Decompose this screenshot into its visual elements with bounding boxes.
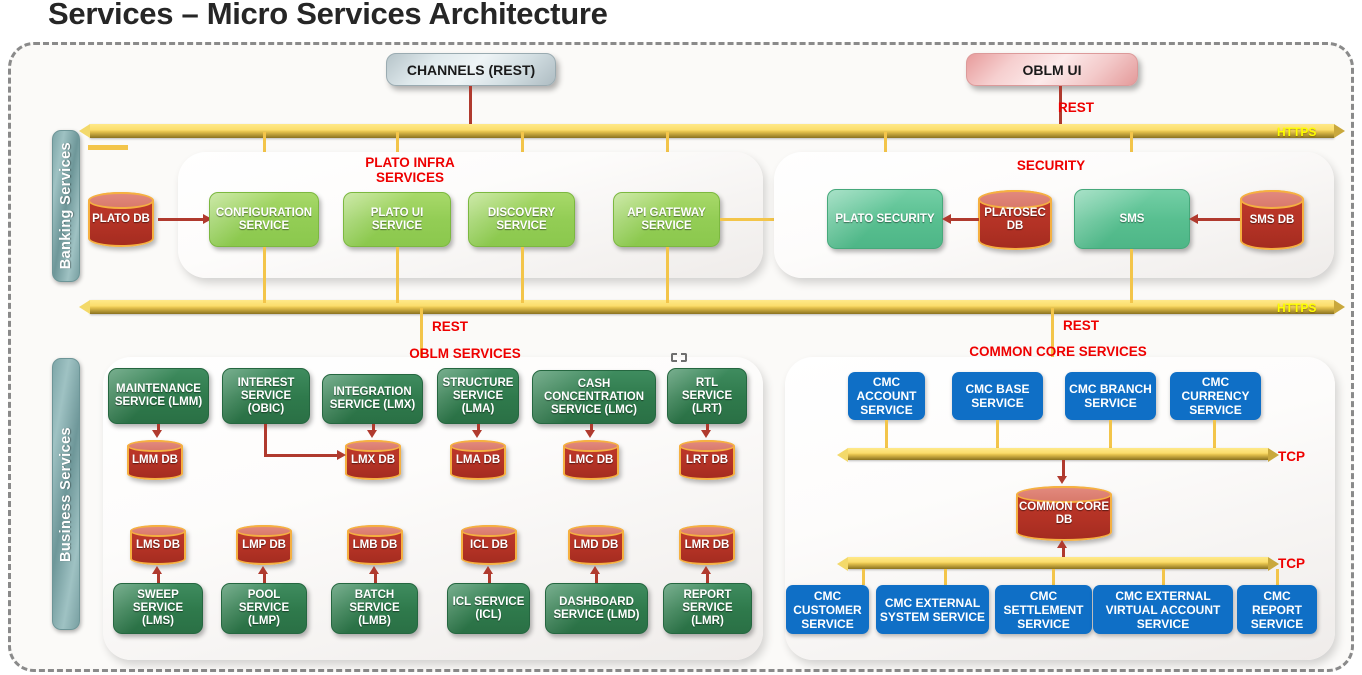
bus-bar-top — [90, 124, 1334, 138]
arrow-pool-to-lmp-db — [258, 566, 268, 574]
lmx-db[interactable]: LMX DB — [345, 440, 401, 480]
icl-service-box[interactable]: ICL SERVICE (ICL) — [447, 583, 530, 634]
cmc-account-service-box[interactable]: CMC ACCOUNT SERVICE — [848, 372, 925, 420]
tcp-bus-to-cmc-external-system-connector — [944, 569, 947, 585]
tcp-bus-to-cmc-customer-connector — [862, 569, 865, 585]
rest-label-common-core: REST — [1063, 318, 1099, 333]
arrow-rtl-to-lrt-db — [701, 430, 711, 438]
rtl-service-box[interactable]: RTL SERVICE (LRT) — [667, 368, 747, 424]
interest-elbow-horizontal — [264, 454, 338, 457]
cmc-currency-service-box[interactable]: CMC CURRENCY SERVICE — [1170, 372, 1261, 420]
lmc-db[interactable]: LMC DB — [563, 440, 619, 480]
arrow-bottom-bus-to-common-core-db — [1057, 540, 1067, 548]
oblm-services-panel-title: OBLM SERVICES — [380, 346, 550, 361]
arrow-sms-db-to-sms — [1189, 214, 1198, 224]
interest-service-box[interactable]: INTEREST SERVICE (OBIC) — [222, 368, 310, 424]
arrow-integration-to-lmx-db — [367, 430, 377, 438]
sms-db-to-sms-connector — [1198, 218, 1240, 221]
cmc-account-to-tcp-bus-connector — [885, 420, 888, 450]
icl-db[interactable]: ICL DB — [461, 525, 517, 565]
dashed-marker-icon — [671, 353, 687, 362]
arrow-interest-to-lmx-db — [337, 450, 346, 460]
cmc-report-service-box[interactable]: CMC REPORT SERVICE — [1237, 585, 1317, 634]
https-label-top: HTTPS — [1277, 126, 1311, 139]
tcp-bus-top — [848, 448, 1268, 460]
arrow-report-to-lmr-db — [701, 566, 711, 574]
tcp-label-bottom: TCP — [1278, 556, 1305, 571]
plato-ui-service-box[interactable]: PLATO UI SERVICE — [343, 192, 451, 247]
sms-db[interactable]: SMS DB — [1240, 190, 1304, 250]
platosec-db[interactable]: PLATOSEC DB — [978, 190, 1052, 250]
tcp-bus-to-cmc-report-connector — [1276, 569, 1279, 585]
lms-db[interactable]: LMS DB — [130, 525, 186, 565]
bus2-up-plato-ui-service — [396, 247, 399, 303]
structure-service-box[interactable]: STRUCTURE SERVICE (LMA) — [437, 368, 519, 424]
batch-service-box[interactable]: BATCH SERVICE (LMB) — [331, 583, 418, 634]
arrow-sweep-to-lms-db — [152, 566, 162, 574]
cmc-settlement-service-box[interactable]: CMC SETTLEMENT SERVICE — [995, 585, 1092, 634]
configuration-service-box[interactable]: CONFIGURATION SERVICE — [209, 192, 319, 247]
integration-service-box[interactable]: INTEGRATION SERVICE (LMX) — [322, 374, 423, 424]
platosec-db-to-plato-security-connector — [951, 218, 979, 221]
sms-box[interactable]: SMS — [1074, 189, 1190, 249]
cmc-base-to-tcp-bus-connector — [996, 420, 999, 450]
cmc-branch-service-box[interactable]: CMC BRANCH SERVICE — [1065, 372, 1156, 420]
tcp-bus-to-cmc-external-virtual-account-connector — [1162, 569, 1165, 585]
bus-stub-left-top — [88, 145, 128, 150]
cmc-base-service-box[interactable]: CMC BASE SERVICE — [952, 372, 1043, 420]
arrow-icl-to-icl-db — [483, 566, 493, 574]
cmc-customer-service-box[interactable]: CMC CUSTOMER SERVICE — [786, 585, 869, 634]
lma-db[interactable]: LMA DB — [450, 440, 506, 480]
channels-box[interactable]: CHANNELS (REST) — [386, 53, 556, 86]
diagram-canvas: Services – Micro Services Architecture C… — [0, 0, 1362, 675]
arrow-platosec-db-to-plato-security — [942, 214, 951, 224]
arrow-maintenance-to-lmm-db — [152, 430, 162, 438]
page-title: Services – Micro Services Architecture — [48, 0, 608, 32]
https-label-middle: HTTPS — [1277, 302, 1311, 315]
arrow-cash-concentration-to-lmc-db — [585, 430, 595, 438]
bus2-up-api-gateway-service — [666, 247, 669, 303]
side-label-business-services: Business Services — [52, 358, 80, 630]
bus-bar-middle — [90, 300, 1334, 314]
lrt-db[interactable]: LRT DB — [679, 440, 735, 480]
dashboard-service-box[interactable]: DASHBOARD SERVICE (LMD) — [545, 583, 648, 634]
sweep-service-box[interactable]: SWEEP SERVICE (LMS) — [113, 583, 203, 634]
lmr-db[interactable]: LMR DB — [679, 525, 735, 565]
plato-security-box[interactable]: PLATO SECURITY — [827, 189, 943, 249]
api-gateway-service-box[interactable]: API GATEWAY SERVICE — [613, 192, 720, 247]
channels-label: CHANNELS (REST) — [407, 62, 535, 78]
lmm-db[interactable]: LMM DB — [127, 440, 183, 480]
arrow-structure-to-lma-db — [472, 430, 482, 438]
bus2-up-configuration-service — [263, 247, 266, 303]
maintenance-service-box[interactable]: MAINTENANCE SERVICE (LMM) — [108, 368, 209, 424]
tcp-label-top: TCP — [1278, 449, 1305, 464]
tcp-bus-to-cmc-settlement-connector — [1052, 569, 1055, 585]
security-panel-title: SECURITY — [1011, 158, 1091, 173]
plato-db-to-configuration-connector — [158, 218, 204, 221]
arrow-tcp-bus-to-common-core-db — [1057, 476, 1067, 484]
lmb-db[interactable]: LMB DB — [347, 525, 403, 565]
bus2-up-discovery-service — [521, 247, 524, 303]
oblm-ui-box[interactable]: OBLM UI — [966, 53, 1138, 86]
rest-label-oblm-ui: REST — [1058, 100, 1094, 115]
plato-infra-panel-title: PLATO INFRA SERVICES — [330, 155, 490, 185]
lmd-db[interactable]: LMD DB — [568, 525, 624, 565]
report-service-box[interactable]: REPORT SERVICE (LMR) — [663, 583, 752, 634]
bus2-up-sms — [1130, 249, 1133, 303]
arrow-batch-to-lmb-db — [369, 566, 379, 574]
pool-service-box[interactable]: POOL SERVICE (LMP) — [221, 583, 307, 634]
arrow-dashboard-to-lmd-db — [590, 566, 600, 574]
side-label-banking-services: Banking Services — [52, 130, 80, 282]
tcp-bus-bottom — [848, 557, 1268, 569]
oblm-ui-label: OBLM UI — [1022, 62, 1081, 78]
cash-concentration-service-box[interactable]: CASH CONCENTRATION SERVICE (LMC) — [532, 370, 656, 424]
common-core-panel-title: COMMON CORE SERVICES — [968, 344, 1148, 359]
interest-elbow-vertical — [264, 424, 267, 456]
cmc-currency-to-tcp-bus-connector — [1213, 420, 1216, 450]
common-core-db[interactable]: COMMON CORE DB — [1016, 486, 1112, 541]
rest-label-oblm: REST — [432, 319, 468, 334]
cmc-branch-to-tcp-bus-connector — [1109, 420, 1112, 450]
cmc-external-system-service-box[interactable]: CMC EXTERNAL SYSTEM SERVICE — [876, 585, 989, 634]
plato-db[interactable]: PLATO DB — [88, 192, 154, 247]
lmp-db[interactable]: LMP DB — [236, 525, 292, 565]
cmc-external-virtual-account-service-box[interactable]: CMC EXTERNAL VIRTUAL ACCOUNT SERVICE — [1093, 585, 1233, 634]
discovery-service-box[interactable]: DISCOVERY SERVICE — [468, 192, 575, 247]
